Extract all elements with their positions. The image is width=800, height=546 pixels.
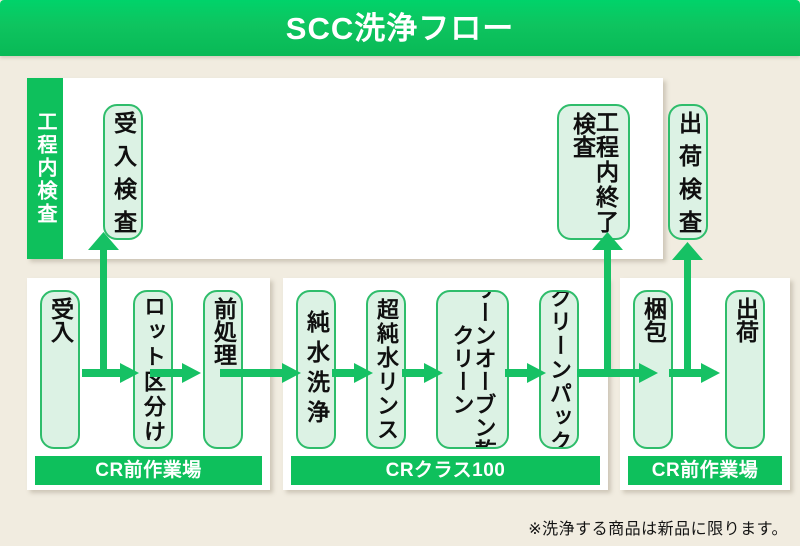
- arrow-lot-sorting-to-pretreatment: [150, 362, 202, 384]
- box-step-shipping-label: 出荷: [734, 292, 757, 447]
- title-banner: SCC洗浄フロー: [0, 0, 800, 56]
- box-process-end-inspection-label-col2: 検査: [571, 106, 594, 238]
- zone-panel-pre-cr-2: 梱包 出荷 CR前作業場: [620, 278, 790, 490]
- box-step-clean-oven-dry[interactable]: クリーンオーブン乾燥 クリーン: [436, 290, 509, 449]
- box-step-clean-pack-label: クリーンパック: [548, 292, 570, 447]
- arrow-clean-oven-dry-to-clean-pack: [505, 362, 547, 384]
- box-step-pure-water-wash-label: 純水洗浄: [305, 292, 328, 447]
- arrow-head-to-shipping-inspection: [672, 242, 703, 264]
- zone-panel-pre-cr-1: 受入 ロット区分け 前処理 CR前作業場: [27, 278, 270, 490]
- arrow-head-to-receiving-inspection: [88, 232, 119, 254]
- footnote: ※洗浄する商品は新品に限ります。: [528, 522, 788, 538]
- arrow-stem-to-shipping-inspection: [684, 258, 691, 370]
- zone-band-cr-class-100: CRクラス100: [291, 456, 600, 485]
- arrow-ultrapure-rinse-to-clean-oven-dry: [402, 362, 444, 384]
- zone-band-pre-cr-1: CR前作業場: [35, 456, 262, 485]
- box-receiving-inspection-label: 受入検査: [112, 106, 135, 238]
- inspection-tab-label: 工程内検査: [35, 111, 55, 226]
- arrow-pretreatment-to-pure-water-wash: [220, 362, 302, 384]
- box-shipping-inspection[interactable]: 出荷検査: [668, 104, 708, 240]
- zone-band-pre-cr-2-label: CR前作業場: [652, 461, 758, 480]
- arrow-packing-to-shipping: [669, 362, 721, 384]
- box-shipping-inspection-label: 出荷検査: [677, 106, 700, 238]
- box-step-receiving[interactable]: 受入: [40, 290, 80, 449]
- page-title: SCC洗浄フロー: [286, 13, 514, 44]
- box-step-clean-oven-dry-label-col2: クリーン: [451, 292, 473, 447]
- zone-band-pre-cr-2: CR前作業場: [628, 456, 782, 485]
- arrow-stem-to-receiving-inspection: [100, 248, 107, 370]
- box-process-end-inspection-label-col1: 工程内終了: [594, 106, 617, 238]
- inspection-panel: 工程内検査 受入検査 工程内終了 検査: [27, 78, 663, 259]
- box-receiving-inspection[interactable]: 受入検査: [103, 104, 143, 240]
- box-step-receiving-label: 受入: [49, 292, 72, 447]
- flow-diagram-canvas: SCC洗浄フロー 工程内検査 受入検査 工程内終了 検査 出荷検査 受入 ロット…: [0, 0, 800, 546]
- arrow-pure-water-wash-to-ultrapure-rinse: [332, 362, 374, 384]
- box-step-clean-oven-dry-label-col1: クリーンオーブン乾燥: [473, 292, 495, 447]
- arrow-head-to-process-end-inspection: [592, 232, 623, 254]
- arrow-receiving-to-lot-sorting: [82, 362, 140, 384]
- arrow-clean-pack-to-packing: [577, 362, 659, 384]
- zone-band-cr-class-100-label: CRクラス100: [386, 461, 506, 480]
- box-step-ultrapure-water-rinse-label: 超純水リンス: [375, 292, 397, 447]
- box-process-end-inspection[interactable]: 工程内終了 検査: [557, 104, 630, 240]
- arrow-stem-to-process-end-inspection: [604, 248, 611, 370]
- zone-panel-cr-class-100: 純水洗浄 超純水リンス クリーンオーブン乾燥 クリーン クリーンパック CRクラ…: [283, 278, 608, 490]
- zone-band-pre-cr-1-label: CR前作業場: [95, 461, 201, 480]
- box-step-shipping[interactable]: 出荷: [725, 290, 765, 449]
- box-step-pure-water-wash[interactable]: 純水洗浄: [296, 290, 336, 449]
- inspection-tab: 工程内検査: [27, 78, 63, 259]
